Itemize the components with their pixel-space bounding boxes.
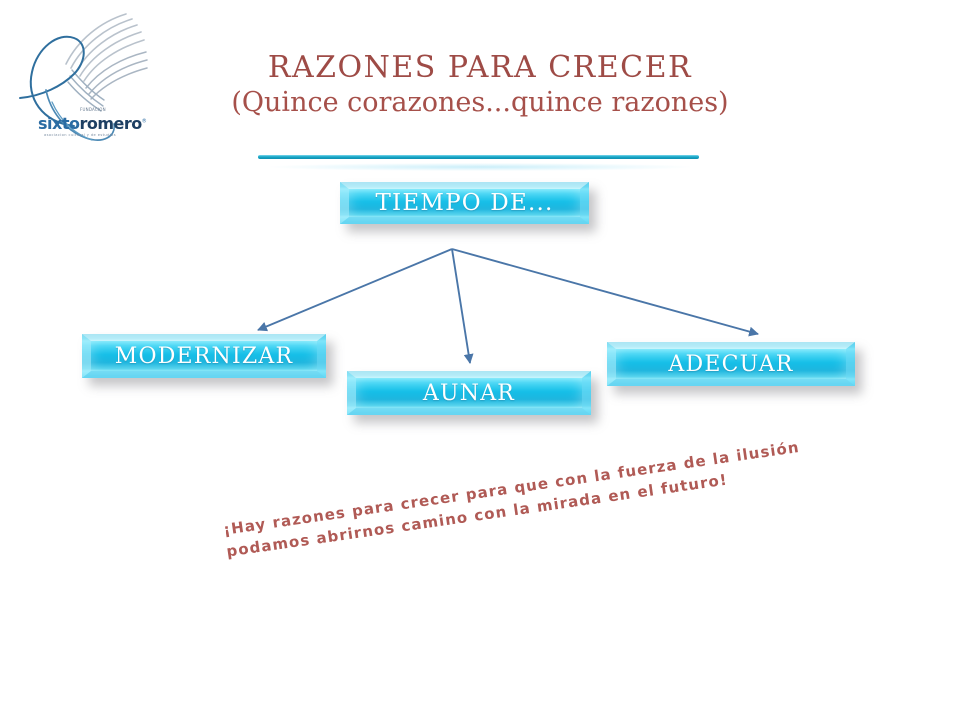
node-tiempo-de[interactable]: TIEMPO DE... (340, 182, 589, 224)
footer-caption: ¡Hay razones para crecer para que con la… (222, 449, 723, 563)
node-aunar-label: AUNAR (423, 381, 515, 406)
sixtoromero-logo: FUNDACION sixtoromero® asociacion cultur… (8, 6, 158, 146)
node-tiempo-de-label: TIEMPO DE... (376, 190, 554, 216)
slide-canvas: FUNDACION sixtoromero® asociacion cultur… (0, 0, 960, 720)
logo-tagline-top: FUNDACION (80, 107, 106, 112)
title-block: RAZONES PARA CRECER (Quince corazones...… (180, 52, 780, 117)
node-adecuar[interactable]: ADECUAR (607, 342, 855, 386)
node-modernizar-label: MODERNIZAR (115, 344, 294, 369)
arrow-to-modernizar (258, 249, 452, 330)
page-title: RAZONES PARA CRECER (180, 52, 780, 84)
node-aunar[interactable]: AUNAR (347, 371, 591, 415)
node-adecuar-label: ADECUAR (668, 352, 793, 377)
arrow-to-aunar (452, 249, 470, 363)
logo-word-sixto: sixto (38, 114, 79, 133)
title-divider-glow (270, 163, 690, 171)
logo-wordmark: FUNDACION sixtoromero® asociacion cultur… (38, 114, 138, 144)
logo-tagline-bottom: asociacion cultural y de estudios (44, 133, 116, 137)
title-divider-line (258, 155, 699, 159)
node-modernizar[interactable]: MODERNIZAR (82, 334, 326, 378)
logo-word-romero: romero (79, 114, 141, 133)
logo-registered-icon: ® (142, 119, 147, 125)
page-subtitle: (Quince corazones...quince razones) (180, 88, 780, 118)
arrow-to-adecuar (452, 249, 758, 334)
